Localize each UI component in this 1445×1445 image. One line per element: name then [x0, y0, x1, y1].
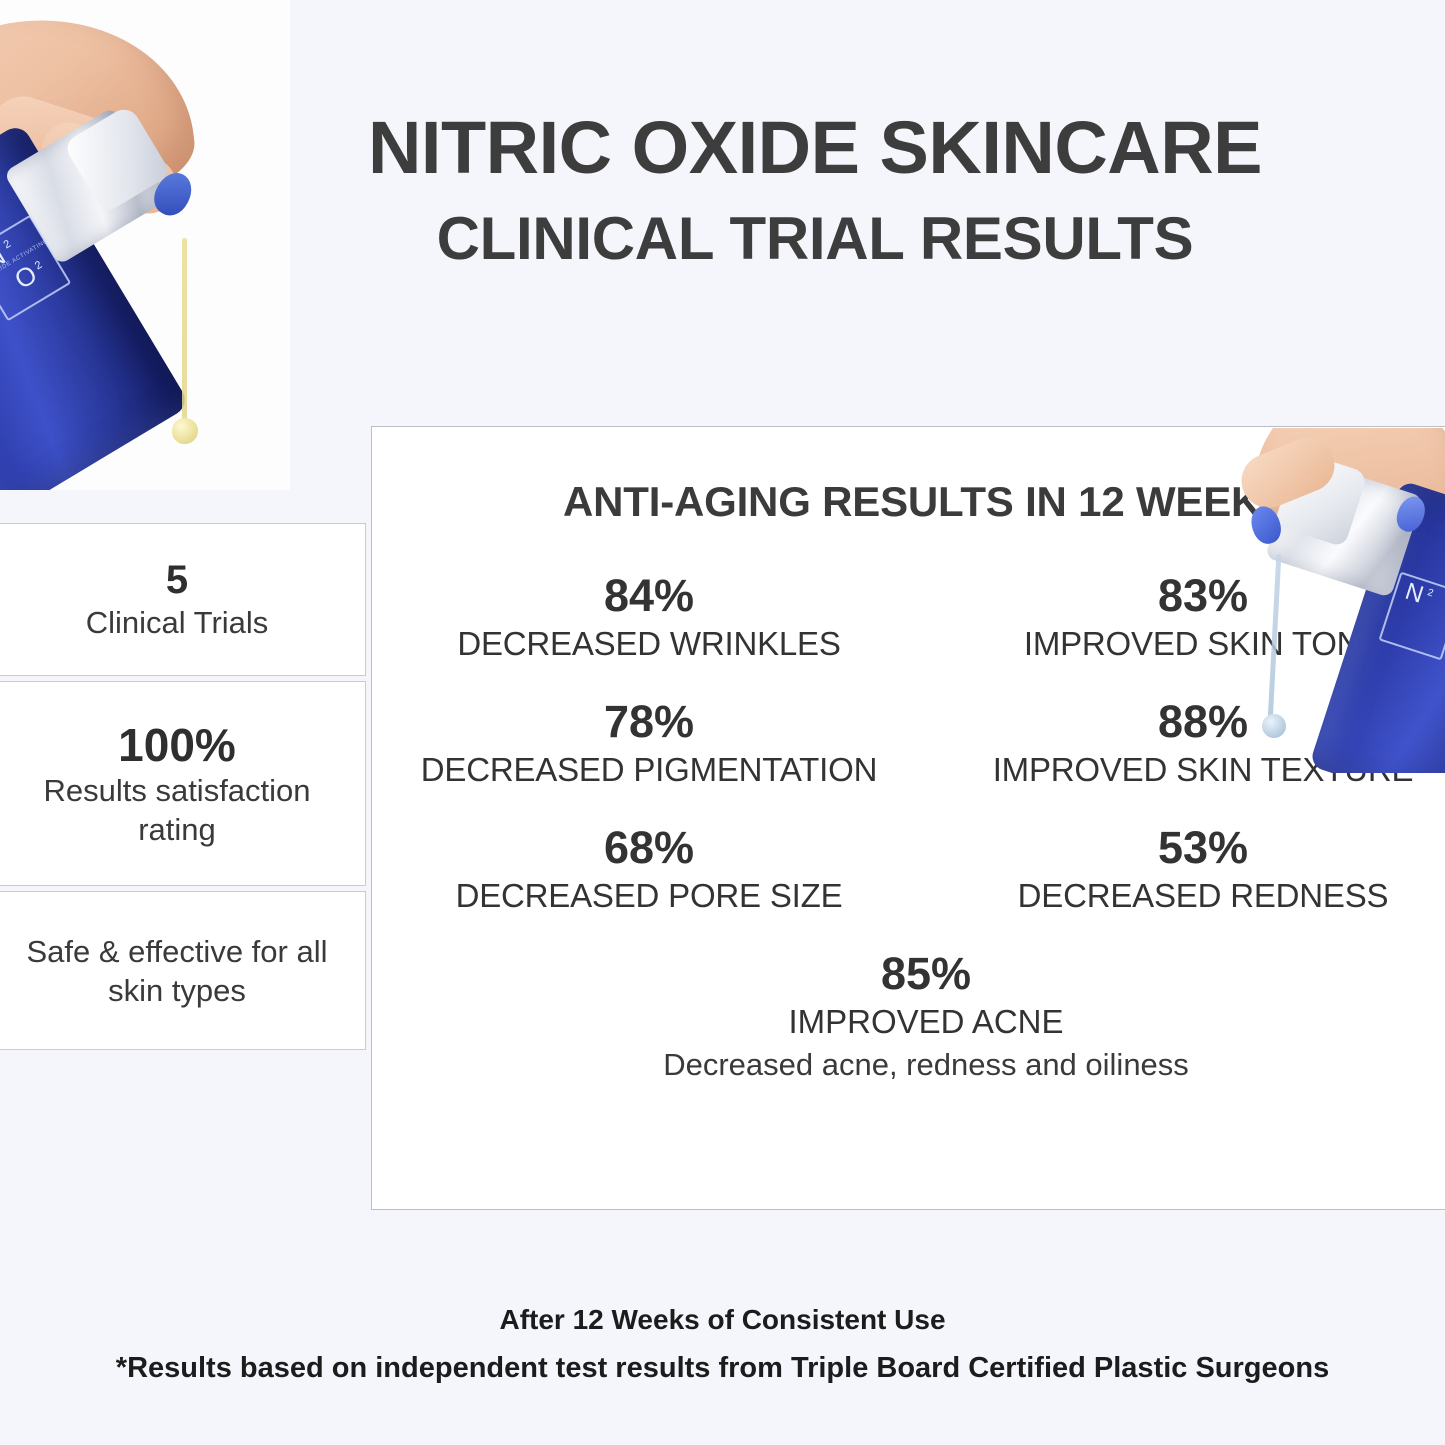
stat-label: Clinical Trials — [86, 603, 269, 642]
result-label: DECREASED REDNESS — [934, 875, 1445, 917]
results-panel-title: ANTI-AGING RESULTS IN 12 WEEKS — [372, 475, 1445, 529]
result-item-redness: 53% DECREASED REDNESS — [926, 821, 1445, 917]
page-subtitle: CLINICAL TRIAL RESULTS — [255, 197, 1375, 281]
result-label: DECREASED WRINKLES — [380, 623, 918, 665]
result-label: DECREASED PIGMENTATION — [380, 749, 918, 791]
stat-box-safe-effective: Safe & effective for all skin types — [0, 891, 366, 1050]
footer-line-1: After 12 Weeks of Consistent Use — [0, 1300, 1445, 1340]
result-value: 85% — [372, 947, 1445, 1001]
result-item-acne: 85% IMPROVED ACNE Decreased acne, rednes… — [372, 947, 1445, 1085]
result-value: 78% — [380, 695, 918, 749]
result-item-pore-size: 68% DECREASED PORE SIZE — [372, 821, 926, 917]
result-item-wrinkles: 84% DECREASED WRINKLES — [372, 569, 926, 665]
results-panel: ANTI-AGING RESULTS IN 12 WEEKS 84% DECRE… — [371, 426, 1445, 1210]
serum-droplet-graphic — [172, 418, 198, 444]
result-sublabel: Decreased acne, redness and oiliness — [372, 1045, 1445, 1085]
stat-value: 5 — [166, 557, 188, 603]
stat-label: Results satisfaction rating — [15, 771, 339, 849]
footer-line-2: *Results based on independent test resul… — [0, 1346, 1445, 1390]
product-photo-left: N 2 O 2 NITRIC OXIDE ACTIVATING SERUM — [0, 0, 290, 490]
result-item-skin-texture: 88% IMPROVED SKIN TEXTURE — [926, 695, 1445, 791]
stat-label: Safe & effective for all skin types — [15, 932, 339, 1010]
result-value: 84% — [380, 569, 918, 623]
page-title: NITRIC OXIDE SKINCARE — [255, 105, 1375, 191]
results-stat-grid: 84% DECREASED WRINKLES 83% IMPROVED SKIN… — [372, 569, 1445, 917]
result-value: 68% — [380, 821, 918, 875]
stat-value: 100% — [118, 719, 236, 771]
stat-box-satisfaction: 100% Results satisfaction rating — [0, 681, 366, 886]
footer-disclaimer: After 12 Weeks of Consistent Use *Result… — [0, 1300, 1445, 1390]
page-title-block: NITRIC OXIDE SKINCARE CLINICAL TRIAL RES… — [255, 105, 1375, 281]
result-item-pigmentation: 78% DECREASED PIGMENTATION — [372, 695, 926, 791]
result-item-skin-tone: 83% IMPROVED SKIN TONE — [926, 569, 1445, 665]
stat-box-clinical-trials: 5 Clinical Trials — [0, 523, 366, 676]
serum-drip-graphic — [182, 238, 187, 420]
result-value: 83% — [934, 569, 1445, 623]
result-value: 53% — [934, 821, 1445, 875]
brand-subscript-1: 2 — [2, 237, 14, 251]
result-label: DECREASED PORE SIZE — [380, 875, 918, 917]
result-value: 88% — [934, 695, 1445, 749]
result-label: IMPROVED SKIN TONE — [934, 623, 1445, 665]
result-label: IMPROVED ACNE — [372, 1001, 1445, 1043]
result-label: IMPROVED SKIN TEXTURE — [934, 749, 1445, 791]
sidebar-stats: 5 Clinical Trials 100% Results satisfact… — [0, 523, 366, 1050]
